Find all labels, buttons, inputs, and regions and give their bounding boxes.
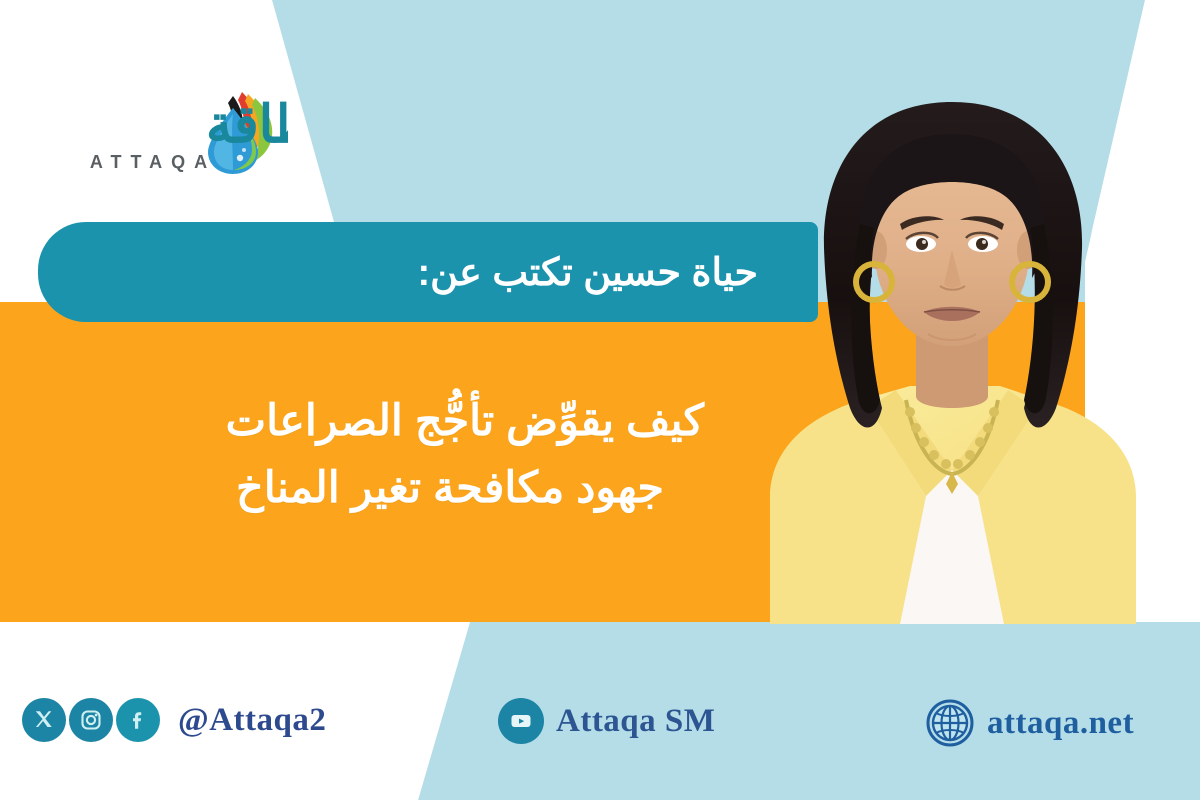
author-portrait — [700, 78, 1200, 624]
headline: كيف يقوِّض تأجُّج الصراعات جهود مكافحة ت… — [0, 388, 740, 521]
logo-svg: الطاقة ATTAQA — [28, 84, 288, 174]
footer-website-group: attaqa.net — [925, 698, 1134, 748]
facebook-icon[interactable] — [116, 698, 160, 742]
youtube-label[interactable]: Attaqa SM — [556, 703, 715, 740]
portrait-svg — [700, 78, 1200, 624]
headline-line-1: كيف يقوِّض تأجُّج الصراعات — [0, 388, 704, 455]
pupil-left — [916, 238, 928, 250]
footer: @Attaqa2 Attaqa SM — [0, 640, 1200, 800]
x-icon[interactable] — [22, 698, 66, 742]
social-icons — [22, 698, 160, 742]
logo-wordmark-en: ATTAQA — [90, 152, 216, 172]
attaqa-logo[interactable]: الطاقة ATTAQA — [28, 84, 288, 174]
pupil-right — [976, 238, 988, 250]
instagram-icon[interactable] — [69, 698, 113, 742]
logo-wordmark-ar: الطاقة — [206, 96, 288, 154]
social-handle[interactable]: @Attaqa2 — [178, 702, 326, 739]
footer-social-group: @Attaqa2 — [22, 698, 326, 742]
portrait-figure — [770, 102, 1136, 624]
youtube-icon[interactable] — [498, 698, 544, 744]
social-media-card: الطاقة ATTAQA حياة حسين تكتب عن: كيف يقو… — [0, 0, 1200, 800]
website-label[interactable]: attaqa.net — [987, 705, 1134, 742]
headline-line-2: جهود مكافحة تغير المناخ — [0, 455, 704, 522]
footer-youtube-group: Attaqa SM — [498, 698, 715, 744]
globe-icon[interactable] — [925, 698, 975, 748]
